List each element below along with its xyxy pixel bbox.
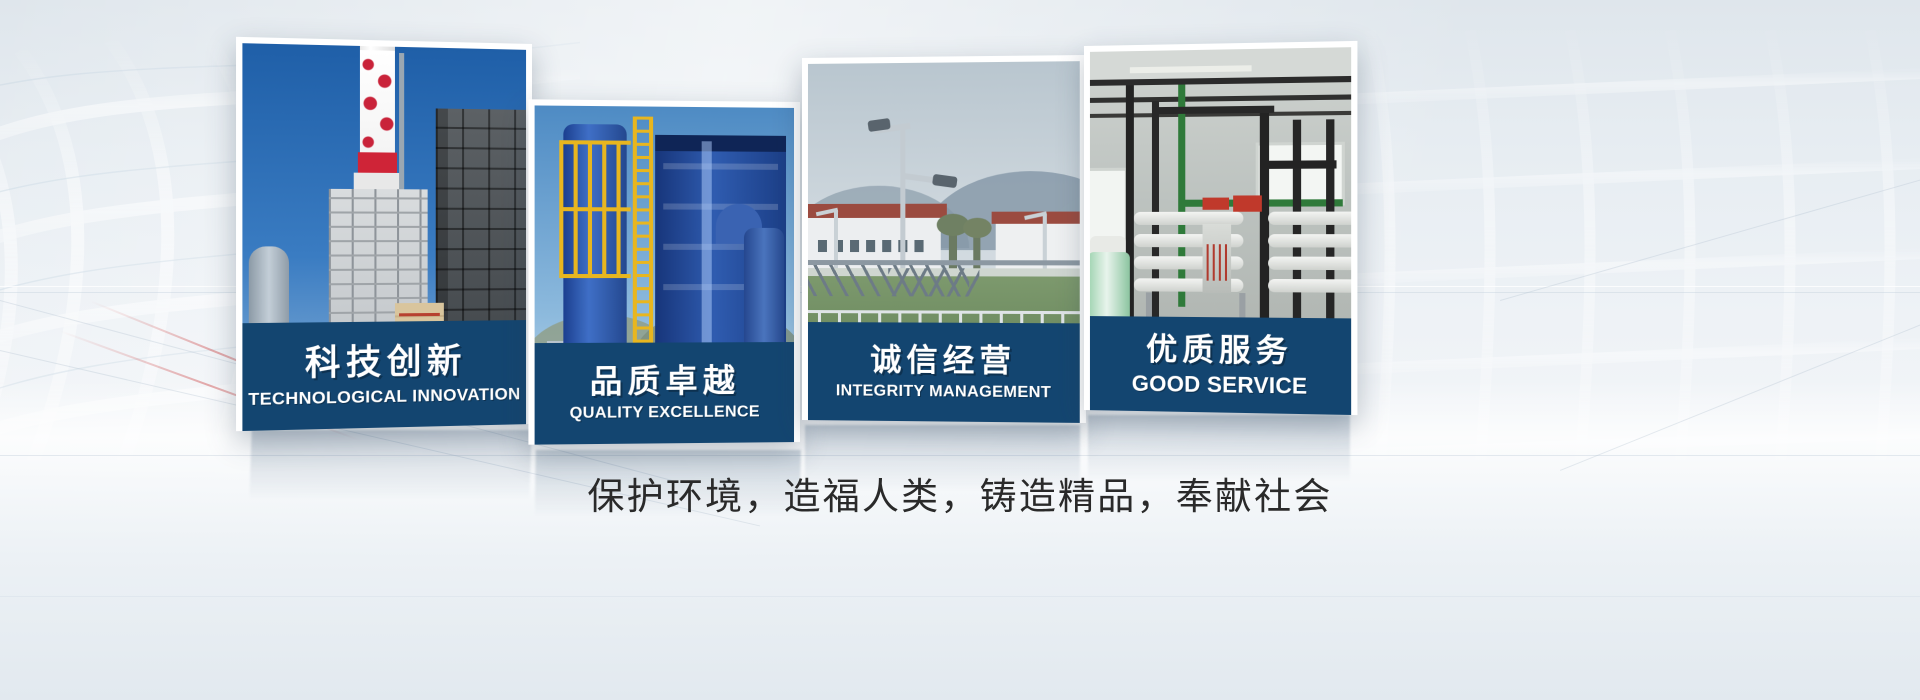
feature-panel-good-service[interactable]: 优质服务 GOOD SERVICE xyxy=(1084,41,1357,415)
panel-caption-quality-excellence: 品质卓越 QUALITY EXCELLENCE xyxy=(535,342,794,445)
feature-panels: 科技创新 TECHNOLOGICAL INNOVATION xyxy=(0,0,1920,700)
panel-caption-good-service: 优质服务 GOOD SERVICE xyxy=(1090,316,1351,415)
panel-title-cn: 品质卓越 xyxy=(590,364,740,397)
panel-title-en: QUALITY EXCELLENCE xyxy=(570,404,760,422)
feature-panel-integrity-management[interactable]: 诚信经营 INTEGRITY MANAGEMENT xyxy=(802,55,1086,423)
panel-title-en: TECHNOLOGICAL INNOVATION xyxy=(248,385,520,408)
panel-title-cn: 诚信经营 xyxy=(870,344,1016,376)
feature-panel-quality-excellence[interactable]: 品质卓越 QUALITY EXCELLENCE xyxy=(528,99,800,444)
feature-panel-technological-innovation[interactable]: 科技创新 TECHNOLOGICAL INNOVATION xyxy=(236,37,532,431)
hero-banner: 科技创新 TECHNOLOGICAL INNOVATION xyxy=(0,0,1920,700)
panel-title-en: GOOD SERVICE xyxy=(1132,372,1308,397)
panel-title-cn: 优质服务 xyxy=(1146,333,1293,366)
panel-caption-technological-innovation: 科技创新 TECHNOLOGICAL INNOVATION xyxy=(242,320,526,431)
banner-tagline: 保护环境，造福人类，铸造精品，奉献社会 xyxy=(0,466,1920,520)
panel-caption-integrity-management: 诚信经营 INTEGRITY MANAGEMENT xyxy=(808,322,1080,423)
panel-title-en: INTEGRITY MANAGEMENT xyxy=(836,383,1051,401)
panel-title-cn: 科技创新 xyxy=(305,343,467,380)
